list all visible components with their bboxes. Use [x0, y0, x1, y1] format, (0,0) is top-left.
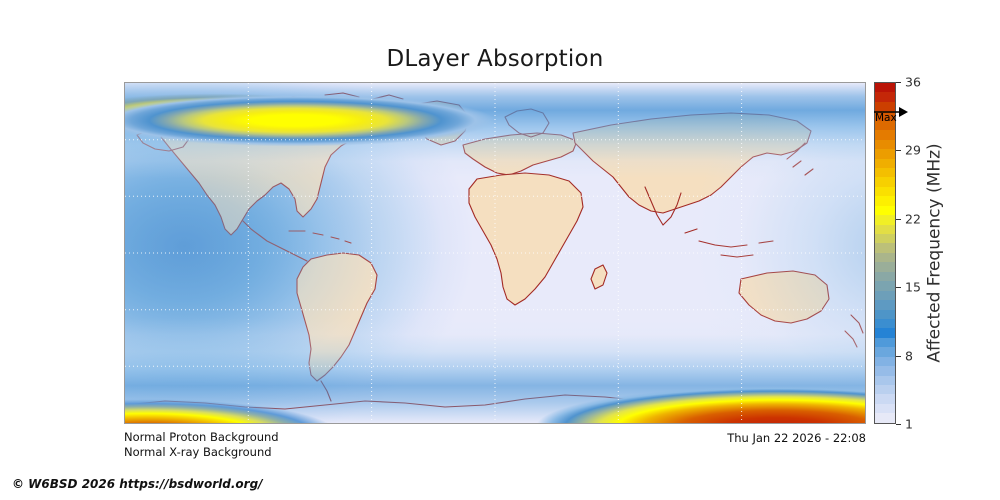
colorbar-axis-label-text: Affected Frequency (MHz)	[925, 143, 945, 362]
colorbar-band	[875, 366, 895, 375]
graticule-layer	[125, 83, 865, 423]
colorbar-band	[875, 92, 895, 101]
colorbar-band	[875, 413, 895, 422]
colorbar-band	[875, 234, 895, 243]
colorbar-band	[875, 404, 895, 413]
colorbar-band	[875, 310, 895, 319]
colorbar-band	[875, 187, 895, 196]
colorbar-tick	[896, 82, 901, 83]
colorbar-band	[875, 272, 895, 281]
colorbar-tick	[896, 424, 901, 425]
colorbar-tick-label: 1	[905, 417, 913, 432]
xray-background-note: Normal X-ray Background	[124, 445, 272, 459]
colorbar-band	[875, 385, 895, 394]
proton-background-note: Normal Proton Background	[124, 430, 279, 444]
colorbar-band	[875, 130, 895, 139]
colorbar-tick-label: 36	[905, 75, 921, 90]
colorbar-axis-label: Affected Frequency (MHz)	[922, 82, 948, 424]
colorbar-band	[875, 300, 895, 309]
colorbar-band	[875, 83, 895, 92]
colorbar-tick	[896, 287, 901, 288]
colorbar-band	[875, 338, 895, 347]
colorbar-band	[875, 225, 895, 234]
colorbar-band	[875, 357, 895, 366]
copyright-footer: © W6BSD 2026 https://bsdworld.org/	[12, 477, 263, 491]
colorbar-band	[875, 177, 895, 186]
colorbar-tick-label: 15	[905, 280, 921, 295]
colorbar-tick	[896, 150, 901, 151]
colorbar-tick-label: 29	[905, 143, 921, 158]
colorbar-band	[875, 168, 895, 177]
page-title: DLayer Absorption	[0, 46, 990, 72]
colorbar-band	[875, 281, 895, 290]
colorbar-band	[875, 206, 895, 215]
colorbar-band	[875, 149, 895, 158]
colorbar-band	[875, 253, 895, 262]
colorbar-band	[875, 328, 895, 337]
colorbar-band	[875, 196, 895, 205]
colorbar-tick-label: 22	[905, 211, 921, 226]
map-panel[interactable]	[124, 82, 866, 424]
colorbar[interactable]: Max 1815222936	[874, 82, 896, 424]
colorbar-gradient	[874, 82, 896, 424]
colorbar-tick	[896, 219, 901, 220]
colorbar-band	[875, 159, 895, 168]
colorbar-band	[875, 347, 895, 356]
colorbar-band	[875, 243, 895, 252]
colorbar-band	[875, 215, 895, 224]
colorbar-band	[875, 319, 895, 328]
colorbar-tick	[896, 356, 901, 357]
colorbar-band	[875, 291, 895, 300]
colorbar-band	[875, 394, 895, 403]
colorbar-tick-label: 8	[905, 348, 913, 363]
timestamp-label: Thu Jan 22 2026 - 22:08	[727, 431, 866, 445]
colorbar-max-label: Max	[875, 113, 897, 124]
colorbar-band	[875, 262, 895, 271]
colorbar-band	[875, 140, 895, 149]
colorbar-band	[875, 376, 895, 385]
